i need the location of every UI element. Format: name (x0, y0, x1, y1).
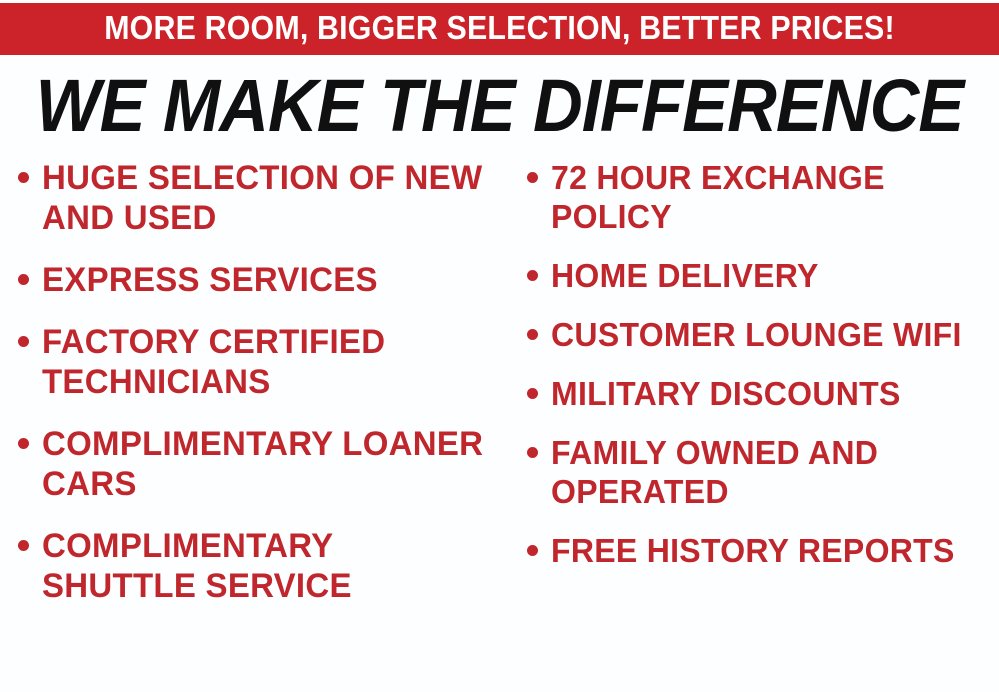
features-column-right: 72 HOUR EXCHANGE POLICY HOME DELIVERY CU… (505, 158, 999, 590)
list-item: FACTORY CERTIFIED TECHNICIANS (18, 322, 499, 402)
bullet-dot-icon (527, 270, 538, 281)
feature-label: FAMILY OWNED AND OPERATED (551, 433, 984, 511)
promotional-banner: MORE ROOM, BIGGER SELECTION, BETTER PRIC… (0, 0, 999, 692)
bullet-dot-icon (527, 545, 538, 556)
bullet-dot-icon (18, 172, 29, 183)
feature-label: COMPLIMENTARY SHUTTLE SERVICE (42, 526, 485, 606)
bullet-dot-icon (527, 388, 538, 399)
page-title: WE MAKE THE DIFFERENCE (35, 66, 964, 146)
feature-label: EXPRESS SERVICES (42, 260, 485, 300)
list-item: COMPLIMENTARY SHUTTLE SERVICE (18, 526, 499, 606)
list-item: HUGE SELECTION OF NEW AND USED (18, 158, 499, 238)
bullet-dot-icon (527, 447, 538, 458)
feature-label: HOME DELIVERY (551, 256, 984, 295)
feature-label: CUSTOMER LOUNGE WIFI (551, 315, 984, 354)
bullet-dot-icon (18, 438, 29, 449)
list-item: COMPLIMENTARY LOANER CARS (18, 424, 499, 504)
header-banner-bar: MORE ROOM, BIGGER SELECTION, BETTER PRIC… (0, 3, 999, 55)
features-column-left: HUGE SELECTION OF NEW AND USED EXPRESS S… (0, 158, 505, 628)
list-item: FREE HISTORY REPORTS (527, 531, 997, 570)
feature-label: MILITARY DISCOUNTS (551, 374, 984, 413)
feature-label: COMPLIMENTARY LOANER CARS (42, 424, 485, 504)
list-item: EXPRESS SERVICES (18, 260, 499, 300)
bullet-dot-icon (527, 172, 538, 183)
feature-label: FREE HISTORY REPORTS (551, 531, 984, 570)
header-banner-text: MORE ROOM, BIGGER SELECTION, BETTER PRIC… (40, 9, 959, 47)
bullet-dot-icon (18, 274, 29, 285)
list-item: HOME DELIVERY (527, 256, 997, 295)
list-item: 72 HOUR EXCHANGE POLICY (527, 158, 997, 236)
bullet-dot-icon (527, 329, 538, 340)
list-item: MILITARY DISCOUNTS (527, 374, 997, 413)
bullet-dot-icon (18, 540, 29, 551)
bullet-dot-icon (18, 336, 29, 347)
feature-label: FACTORY CERTIFIED TECHNICIANS (42, 322, 485, 402)
feature-label: HUGE SELECTION OF NEW AND USED (42, 158, 485, 238)
feature-label: 72 HOUR EXCHANGE POLICY (551, 158, 984, 236)
list-item: CUSTOMER LOUNGE WIFI (527, 315, 997, 354)
list-item: FAMILY OWNED AND OPERATED (527, 433, 997, 511)
features-columns: HUGE SELECTION OF NEW AND USED EXPRESS S… (0, 158, 999, 692)
